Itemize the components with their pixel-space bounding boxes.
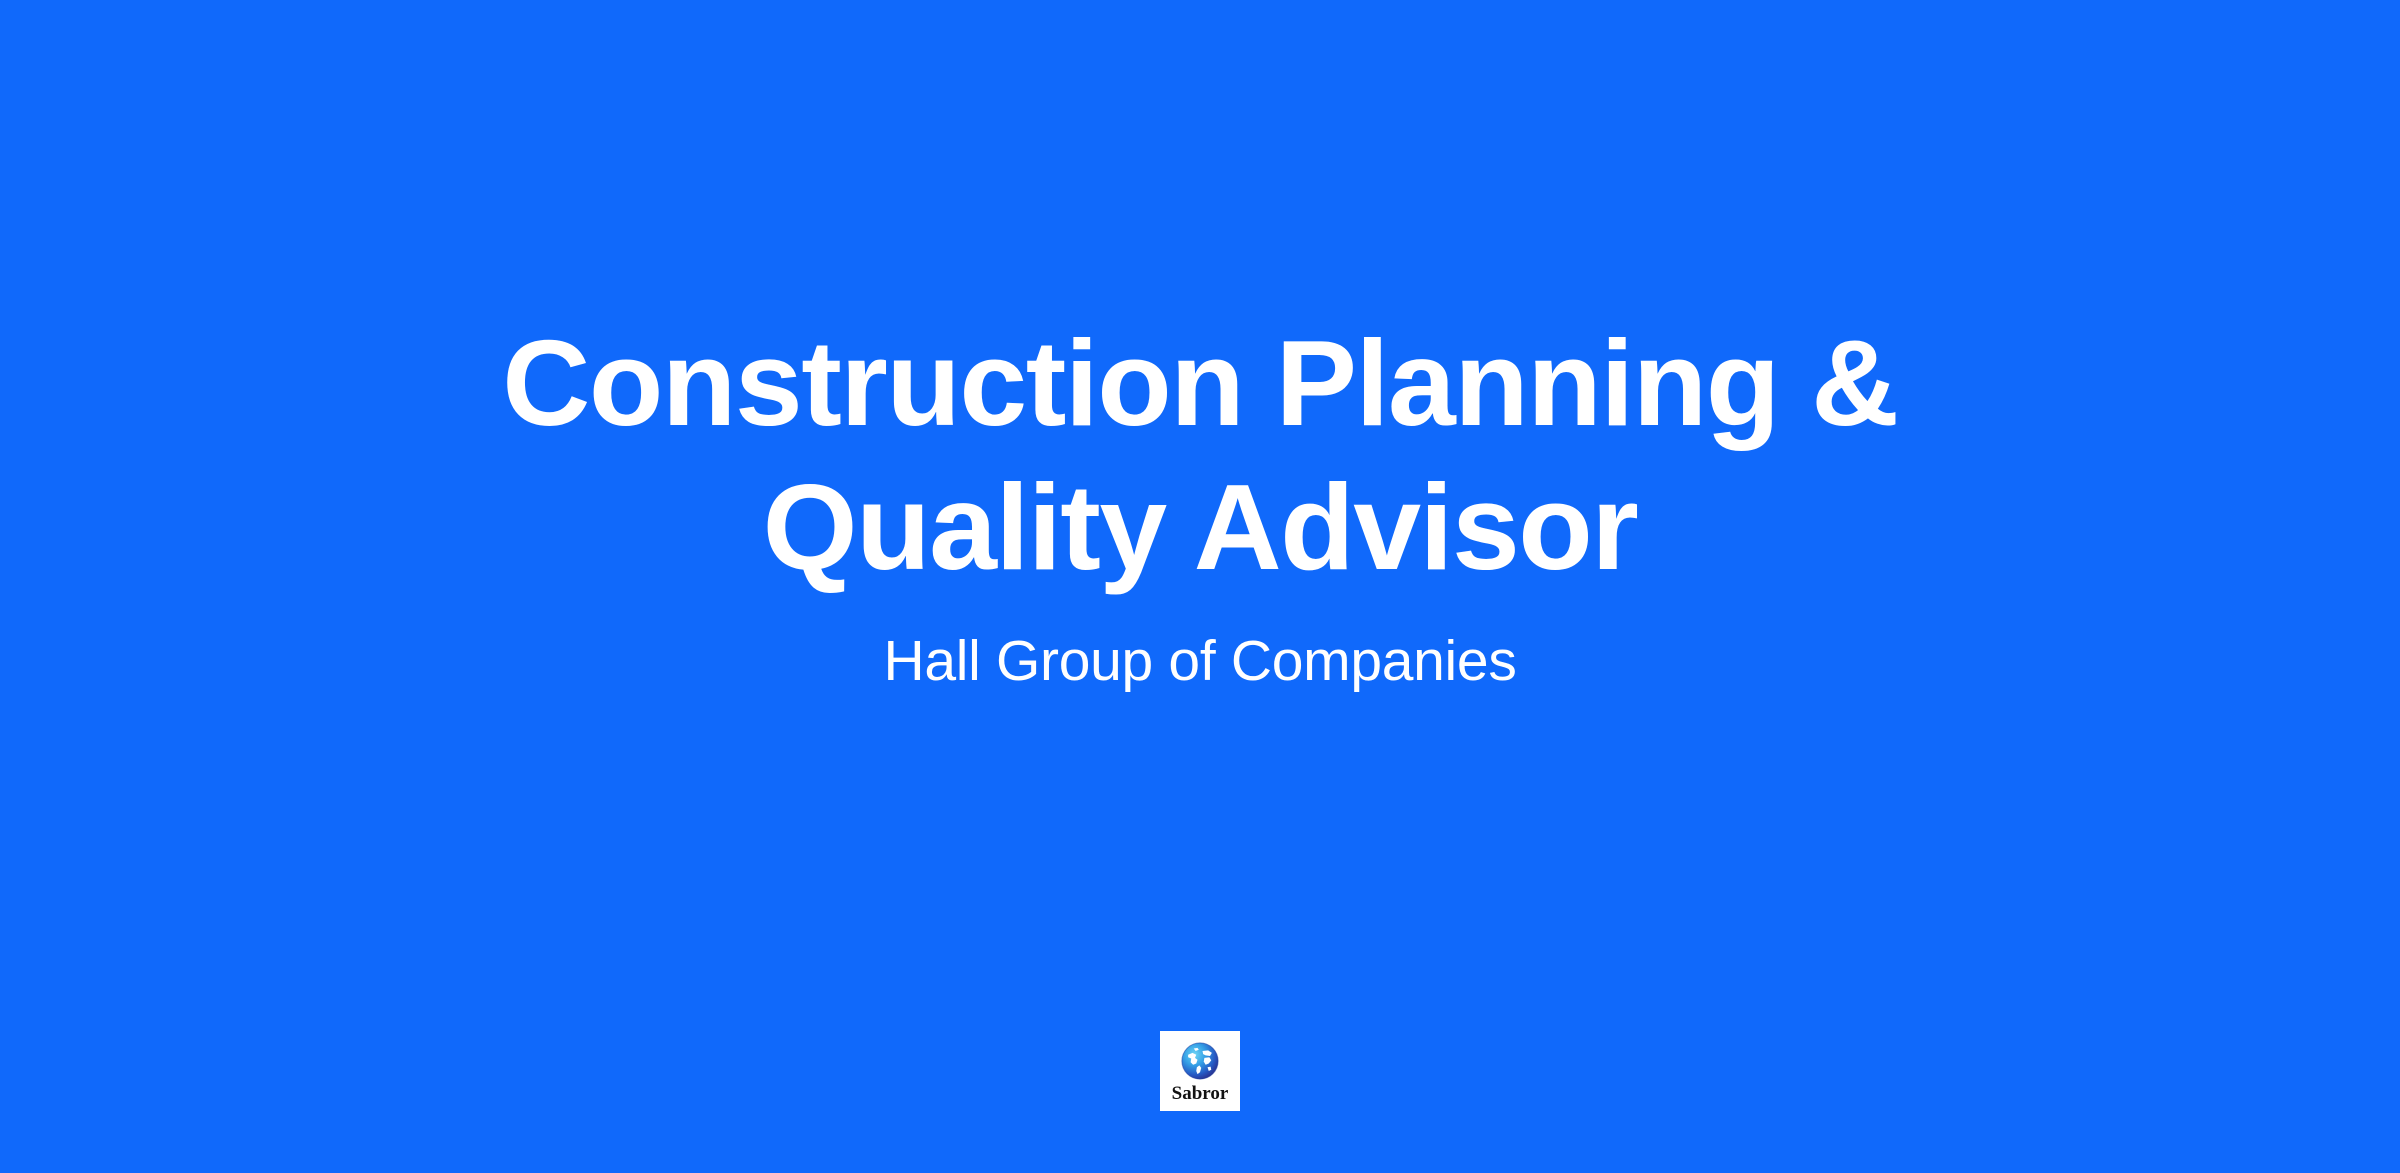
title-slide: Construction Planning & Quality Advisor … [0, 0, 2400, 1173]
slide-subtitle: Hall Group of Companies [883, 626, 1516, 697]
logo-wordmark: Sabror [1172, 1084, 1229, 1103]
slide-content: Construction Planning & Quality Advisor … [0, 0, 2400, 1010]
globe-icon [1180, 1041, 1220, 1081]
page-title: Construction Planning & Quality Advisor [490, 312, 1910, 600]
logo-badge: Sabror [1160, 1031, 1240, 1111]
